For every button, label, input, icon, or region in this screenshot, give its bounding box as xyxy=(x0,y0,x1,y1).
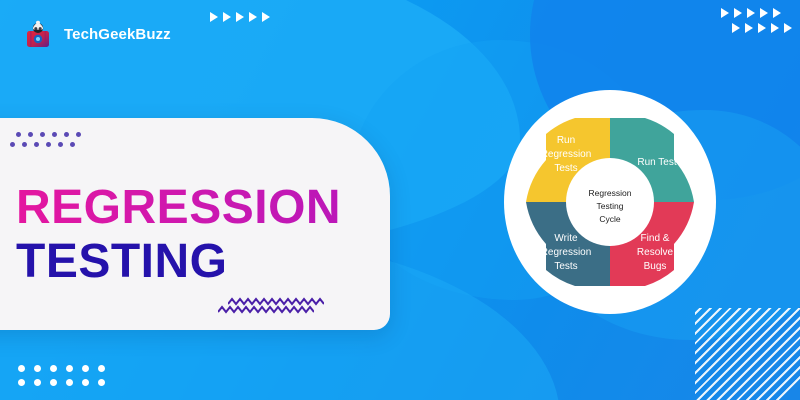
dot xyxy=(46,142,51,147)
dot xyxy=(34,379,41,386)
brand-name: TechGeekBuzz xyxy=(64,26,171,43)
dot xyxy=(66,365,73,372)
play-triangle-icon xyxy=(773,8,781,18)
dot-row xyxy=(18,379,105,386)
dot xyxy=(82,379,89,386)
arrow-row xyxy=(721,8,792,18)
dot xyxy=(70,142,75,147)
purple-dot-grid xyxy=(16,132,81,147)
quadrant-label: Bugs xyxy=(644,261,667,272)
page-title-line-1: REGRESSION xyxy=(16,184,341,232)
arrow-cluster-right xyxy=(721,8,792,33)
play-triangle-icon xyxy=(210,12,218,22)
quadrant-label: Find & xyxy=(641,233,670,244)
dot xyxy=(22,142,27,147)
dot xyxy=(50,379,57,386)
center-label-line: Cycle xyxy=(599,214,621,224)
dot xyxy=(28,132,33,137)
dot xyxy=(18,379,25,386)
play-triangle-icon xyxy=(236,12,244,22)
dot xyxy=(58,142,63,147)
play-triangle-icon xyxy=(745,23,753,33)
dot xyxy=(40,132,45,137)
zigzag-decoration xyxy=(228,296,324,315)
play-triangle-icon xyxy=(747,8,755,18)
play-triangle-icon xyxy=(249,12,257,22)
quadrant-label: Regression xyxy=(541,247,592,258)
center-label-line: Regression xyxy=(589,188,632,198)
dot xyxy=(50,365,57,372)
play-triangle-icon xyxy=(758,23,766,33)
play-triangle-icon xyxy=(760,8,768,18)
title-card: REGRESSION TESTING xyxy=(0,118,390,330)
play-triangle-icon xyxy=(732,23,740,33)
play-triangle-icon xyxy=(734,8,742,18)
page-title-line-2: TESTING xyxy=(16,238,341,286)
dot xyxy=(98,365,105,372)
dot-row xyxy=(10,142,81,147)
quadrant-label: Resolve xyxy=(637,247,674,258)
dot xyxy=(16,132,21,137)
dot xyxy=(52,132,57,137)
dot xyxy=(66,379,73,386)
striped-arc-decoration xyxy=(695,308,800,400)
dot xyxy=(76,132,81,137)
arrow-cluster-left xyxy=(210,12,270,22)
quadrant-label: Write xyxy=(554,233,578,244)
play-triangle-icon xyxy=(262,12,270,22)
dot xyxy=(34,365,41,372)
dot xyxy=(18,365,25,372)
play-triangle-icon xyxy=(771,23,779,33)
quadrant-label: Regression xyxy=(541,149,592,160)
regression-testing-cycle-diagram: Run Regression Tests Run Test Find & Res… xyxy=(500,88,720,316)
arrow-row xyxy=(732,23,792,33)
quadrant-label: Run Test xyxy=(637,157,677,168)
quadrant-label: Run xyxy=(557,135,575,146)
page-title: REGRESSION TESTING xyxy=(16,184,341,286)
dot xyxy=(98,379,105,386)
quadrant-label: Tests xyxy=(554,261,577,272)
arrow-row xyxy=(210,12,270,22)
center-label-line: Testing xyxy=(597,201,624,211)
quadrant-label: Tests xyxy=(554,163,577,174)
dot xyxy=(82,365,89,372)
white-dot-grid xyxy=(18,365,105,386)
brand-logo[interactable]: TechGeekBuzz xyxy=(22,18,171,50)
play-triangle-icon xyxy=(223,12,231,22)
dot xyxy=(64,132,69,137)
dot xyxy=(34,142,39,147)
dot-row xyxy=(16,132,81,137)
dot xyxy=(10,142,15,147)
dot-row xyxy=(18,365,105,372)
play-triangle-icon xyxy=(784,23,792,33)
techgeekbuzz-mascot-icon xyxy=(22,18,54,50)
play-triangle-icon xyxy=(721,8,729,18)
